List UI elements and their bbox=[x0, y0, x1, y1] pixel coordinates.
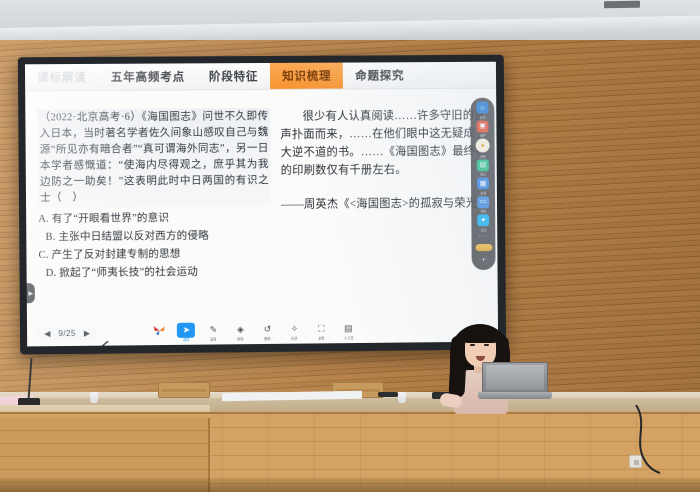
slide-columns: （2022·北京高考·6）《海国图志》问世不久即传入日本，当时著名学者佐久间象山… bbox=[25, 107, 497, 284]
pen-tool-button[interactable]: ✎ 画笔 bbox=[202, 322, 224, 341]
quote-attribution: ——周英杰《<海国图志>的孤寂与荣光》 bbox=[281, 195, 488, 215]
dock-item-notes[interactable]: ▤ 笔记 bbox=[472, 159, 494, 177]
page-navigator: ◀ 9/25 ▶ bbox=[36, 327, 98, 341]
chevron-right-icon[interactable]: ▶ bbox=[84, 329, 90, 338]
more-tools-button[interactable]: ▤ 小工具 bbox=[337, 321, 359, 340]
tab-knowledge-review[interactable]: 知识梳理 bbox=[270, 63, 343, 89]
fullscreen-tool-label: 全屏 bbox=[318, 336, 324, 341]
floating-tool-dock: ⌂ 首页 ▣ 课件 ● 录制 ▤ 笔记 ▦ 资源 bbox=[470, 98, 495, 270]
dock-label-video: 视频 bbox=[480, 208, 486, 213]
undo-icon: ↺ bbox=[258, 322, 276, 337]
select-tool-button[interactable]: ➤ 选择 bbox=[175, 323, 197, 342]
dock-label-resources: 资源 bbox=[480, 190, 486, 195]
tab-stage-features[interactable]: 阶段特征 bbox=[197, 63, 270, 89]
laptop-screen bbox=[486, 365, 544, 390]
dock-collapse-icon[interactable]: ◗ bbox=[478, 255, 489, 266]
pen-tool-label: 画笔 bbox=[210, 337, 216, 342]
tab-five-year-hotspots[interactable]: 五年高频考点 bbox=[99, 63, 197, 90]
grid-icon: ▤ bbox=[339, 321, 357, 336]
resources-icon: ▦ bbox=[477, 177, 489, 189]
chevron-left-icon[interactable]: ◀ bbox=[44, 329, 50, 338]
drawing-tools: ➤ 选择 ✎ 画笔 ◈ 擦除 ↺ 撤销 bbox=[148, 321, 359, 342]
slide-content: （2022·北京高考·6）《海国图志》问世不久即传入日本，当时著名学者佐久间象山… bbox=[25, 89, 498, 347]
fullscreen-tool-button[interactable]: ⛶ 全屏 bbox=[310, 321, 332, 340]
shape-tool-label: 形状 bbox=[291, 336, 297, 341]
fullscreen-icon: ⛶ bbox=[312, 321, 330, 336]
record-icon: ● bbox=[476, 138, 490, 152]
butterfly-svg bbox=[153, 325, 166, 336]
dock-item-resources[interactable]: ▦ 资源 bbox=[472, 177, 494, 195]
floor-shadow bbox=[0, 478, 700, 492]
interact-icon: ✦ bbox=[477, 214, 489, 226]
water-cup bbox=[90, 392, 98, 403]
undo-tool-label: 撤销 bbox=[264, 336, 270, 341]
shape-icon: ✧ bbox=[285, 322, 303, 337]
dock-item-video[interactable]: ▭ 视频 bbox=[472, 196, 494, 214]
dock-action-pill[interactable] bbox=[475, 244, 492, 251]
dock-item-record[interactable]: ● 录制 bbox=[472, 138, 494, 158]
option-c[interactable]: C. 产生了反对封建专制的思想 bbox=[38, 245, 271, 265]
shape-tool-button[interactable]: ✧ 形状 bbox=[283, 322, 305, 341]
laptop bbox=[478, 362, 552, 402]
desk-object bbox=[378, 392, 398, 397]
cursor-icon: ➤ bbox=[177, 323, 195, 338]
water-cup bbox=[398, 392, 406, 403]
video-icon: ▭ bbox=[477, 196, 489, 208]
quote-column: 很少有人认真阅读……许多守旧的官吏骂声扑面而来，……在他们眼中这无疑成了一本大逆… bbox=[280, 107, 487, 281]
ceiling-vent bbox=[604, 1, 640, 9]
laptop-base bbox=[478, 392, 552, 399]
quote-text: 很少有人认真阅读……许多守旧的官吏骂声扑面而来，……在他们眼中这无疑成了一本大逆… bbox=[280, 107, 487, 181]
option-a[interactable]: A. 有了“开眼看世界”的意识 bbox=[38, 209, 271, 229]
dock-label-courseware: 课件 bbox=[480, 133, 486, 138]
dock-label-notes: 笔记 bbox=[480, 172, 486, 177]
more-tools-label: 小工具 bbox=[344, 335, 353, 340]
chair bbox=[158, 382, 210, 398]
power-cable bbox=[630, 405, 670, 475]
dock-label-record: 录制 bbox=[480, 153, 486, 158]
courseware-icon: ▣ bbox=[477, 120, 489, 132]
option-b[interactable]: B. 主张中日结盟以反对西方的侵略 bbox=[38, 227, 271, 247]
eraser-tool-button[interactable]: ◈ 擦除 bbox=[229, 322, 251, 341]
tab-proposition-inquiry[interactable]: 命题探究 bbox=[343, 62, 416, 88]
board-screen: 课标解读 五年高频考点 阶段特征 知识梳理 命题探究 （2022·北京高考·6）… bbox=[25, 62, 498, 347]
dock-item-home[interactable]: ⌂ 首页 bbox=[471, 102, 493, 120]
dock-item-courseware[interactable]: ▣ 课件 bbox=[472, 120, 494, 138]
dock-more-dots[interactable]: ··· bbox=[478, 233, 488, 241]
tabbar-spacer bbox=[416, 62, 426, 88]
undo-tool-button[interactable]: ↺ 撤销 bbox=[256, 322, 278, 341]
eraser-tool-label: 擦除 bbox=[237, 336, 243, 341]
app-logo-icon[interactable] bbox=[148, 323, 170, 337]
ink-stroke-annotation bbox=[86, 340, 112, 347]
dock-label-home: 首页 bbox=[480, 114, 486, 119]
pen-icon: ✎ bbox=[204, 322, 222, 337]
option-d[interactable]: D. 掀起了“师夷长技”的社会运动 bbox=[39, 263, 272, 283]
eraser-icon: ◈ bbox=[231, 322, 249, 337]
question-options: A. 有了“开眼看世界”的意识 B. 主张中日结盟以反对西方的侵略 C. 产生了… bbox=[38, 209, 271, 283]
slide-tabbar: 课标解读 五年高频考点 阶段特征 知识梳理 命题探究 bbox=[25, 62, 496, 92]
laptop-lid bbox=[482, 362, 548, 393]
question-body: （2022·北京高考·6）《海国图志》问世不久即传入日本，当时著名学者佐久间象山… bbox=[37, 108, 271, 208]
panel-expand-handle[interactable]: ▶ bbox=[27, 283, 35, 303]
butterfly-logo-glyph bbox=[150, 323, 168, 338]
lecture-hall-scene: 课标解读 五年高频考点 阶段特征 知识梳理 命题探究 （2022·北京高考·6）… bbox=[0, 0, 700, 492]
tab-kebiao-jiedu[interactable]: 课标解读 bbox=[25, 64, 99, 91]
page-indicator: 9/25 bbox=[58, 329, 75, 338]
notes-icon: ▤ bbox=[477, 159, 489, 171]
dock-item-interact[interactable]: ✦ 互动 bbox=[472, 214, 494, 232]
interactive-smartboard: 课标解读 五年高频考点 阶段特征 知识梳理 命题探究 （2022·北京高考·6）… bbox=[18, 55, 506, 355]
question-column: （2022·北京高考·6）《海国图志》问世不久即传入日本，当时著名学者佐久间象山… bbox=[37, 108, 271, 283]
select-tool-label: 选择 bbox=[183, 337, 189, 342]
home-icon: ⌂ bbox=[476, 102, 488, 114]
hair-fringe bbox=[462, 326, 499, 343]
dock-label-interact: 互动 bbox=[480, 227, 486, 232]
